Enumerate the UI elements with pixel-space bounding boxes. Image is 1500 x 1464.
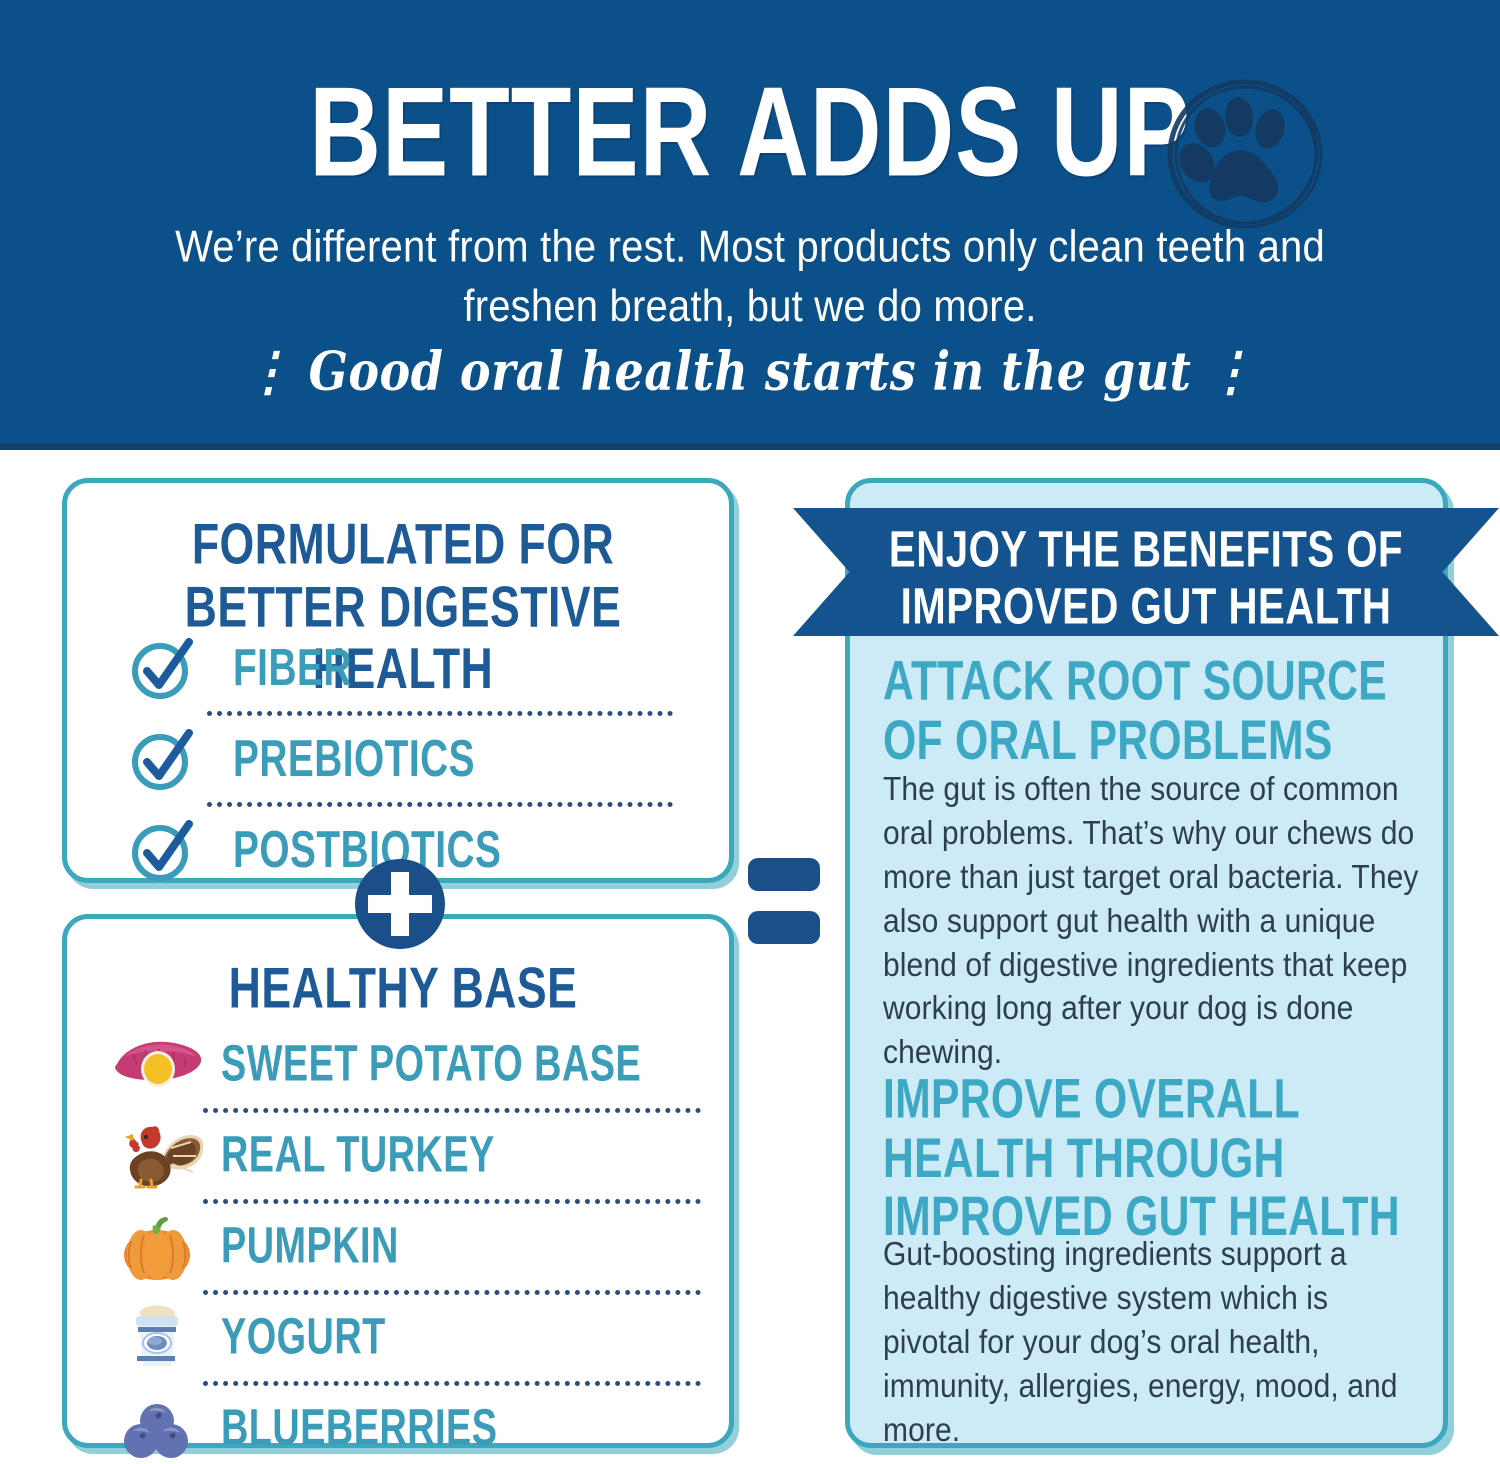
paw-print-icon	[1163, 72, 1328, 237]
list-item-label: YOGURT	[221, 1309, 386, 1366]
plus-circle-icon	[352, 856, 448, 952]
ornament-right: ⋮	[1208, 340, 1255, 402]
list-item-label: SWEET POTATO BASE	[221, 1036, 641, 1093]
divider	[203, 1199, 701, 1204]
benefit-section-1: ATTACK ROOT SOURCE OF ORAL PROBLEMS The …	[883, 653, 1423, 1047]
header-banner: BETTER ADDS UP We’re different from the …	[0, 0, 1500, 450]
benefit-section-2: IMPROVE OVERALL HEALTH THROUGH IMPROVED …	[883, 1071, 1423, 1432]
sweet-potato-icon	[111, 1031, 203, 1099]
list-item[interactable]: SWEET POTATO BASE	[87, 1029, 719, 1101]
divider	[203, 1290, 701, 1295]
panel-title-healthy-base: HEALTHY BASE	[104, 957, 702, 1020]
divider	[207, 802, 673, 807]
equals-sign-icon	[748, 858, 820, 944]
script-text: Good oral health starts in the gut	[309, 340, 1192, 402]
check-circle-icon	[129, 726, 195, 792]
list-item[interactable]: PUMPKIN	[87, 1211, 719, 1283]
list-item-label: REAL TURKEY	[221, 1127, 495, 1184]
list-item[interactable]: PREBIOTICS	[97, 722, 709, 796]
list-item-label: FIBER	[233, 639, 352, 698]
list-item[interactable]: REAL TURKEY	[87, 1120, 719, 1192]
ribbon-banner: ENJOY THE BENEFITS OF IMPROVED GUT HEALT…	[793, 508, 1499, 636]
list-item-label: BLUEBERRIES	[221, 1400, 497, 1457]
infographic-page: BETTER ADDS UP We’re different from the …	[0, 0, 1500, 1464]
benefit-body: Gut-boosting ingredients support a healt…	[883, 1233, 1423, 1452]
list-item[interactable]: FIBER	[97, 631, 709, 705]
blueberries-icon	[111, 1395, 203, 1463]
checklist: FIBER PREBIOTICS	[97, 631, 709, 887]
pumpkin-icon	[111, 1213, 203, 1281]
divider	[203, 1381, 701, 1386]
divider	[203, 1108, 701, 1113]
benefit-heading: ATTACK ROOT SOURCE OF ORAL PROBLEMS	[883, 653, 1407, 770]
header-script-line: ⋮ Good oral health starts in the gut ⋮	[0, 340, 1500, 402]
benefit-body: The gut is often the source of common or…	[883, 768, 1423, 1075]
check-circle-icon	[129, 817, 195, 883]
list-item-label: PUMPKIN	[221, 1218, 399, 1275]
divider	[207, 711, 673, 716]
panel-formulated-for-better-digestive-health: FORMULATED FOR BETTER DIGESTIVE HEALTH F…	[62, 478, 734, 883]
list-item-label: PREBIOTICS	[233, 730, 475, 789]
benefit-heading: IMPROVE OVERALL HEALTH THROUGH IMPROVED …	[883, 1071, 1407, 1247]
ribbon-title: ENJOY THE BENEFITS OF IMPROVED GUT HEALT…	[800, 522, 1492, 636]
list-item[interactable]: BLUEBERRIES	[87, 1393, 719, 1464]
list-item[interactable]: YOGURT	[87, 1302, 719, 1374]
yogurt-cup-icon	[111, 1304, 203, 1372]
equals-bar-top	[748, 858, 820, 891]
check-circle-icon	[129, 635, 195, 701]
header-subtitle: We’re different from the rest. Most prod…	[160, 218, 1340, 336]
healthy-base-list: SWEET POTATO BASE	[87, 1029, 719, 1464]
turkey-icon	[111, 1122, 203, 1190]
panel-healthy-base: HEALTHY BASE SWEET POTATO BASE	[62, 914, 734, 1448]
ornament-left: ⋮	[246, 340, 293, 402]
equals-bar-bottom	[748, 911, 820, 944]
